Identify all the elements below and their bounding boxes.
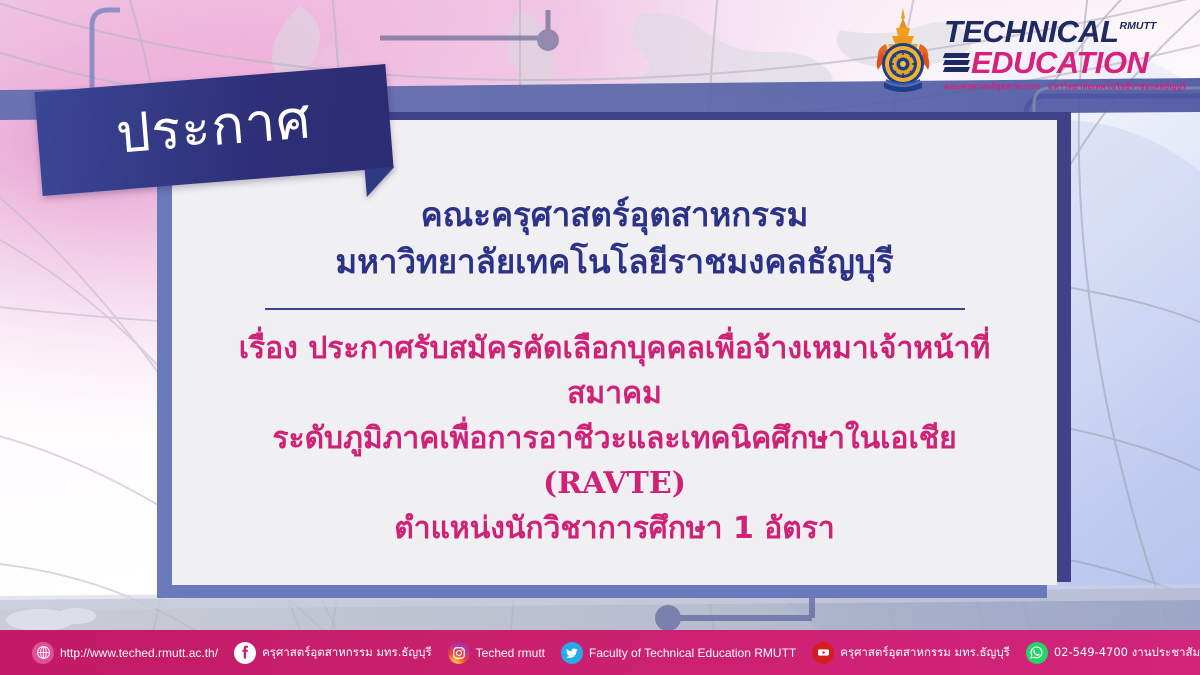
footer-label-website: http://www.teched.rmutt.ac.th/ xyxy=(60,647,218,659)
ribbon-label: ประกาศ xyxy=(114,92,314,167)
whatsapp-icon xyxy=(1026,642,1048,664)
university-name: มหาวิทยาลัยเทคโนโลยีราชมงคลธัญบุรี xyxy=(335,239,893,286)
footer-item-youtube[interactable]: ครุศาสตร์อุตสาหกรรม มทร.ธัญบุรี xyxy=(812,642,1010,664)
triple-bar-icon xyxy=(944,53,969,72)
footer-label-facebook: ครุศาสตร์อุตสาหกรรม มทร.ธัญบุรี xyxy=(262,647,432,659)
wordmark-technical: TECHNICAL xyxy=(944,18,1119,47)
heading-divider xyxy=(265,308,965,310)
wordmark-rmutt: RMUTT xyxy=(1120,22,1157,32)
faculty-name: คณะครุศาสตร์อุตสาหกรรม xyxy=(335,192,893,239)
footer-item-twitter[interactable]: Faculty of Technical Education RMUTT xyxy=(561,642,796,664)
wordmark-thai-university: มหาวิทยาลัยเทคโนโลยีราชมงคลธัญบุรี xyxy=(1048,82,1186,91)
social-footer: http://www.teched.rmutt.ac.th/ ครุศาสตร์… xyxy=(0,630,1200,675)
subject-block: เรื่อง ประกาศรับสมัครคัดเลือกบุคคลเพื่อจ… xyxy=(212,326,1017,551)
wordmark-thai-faculty: คณะครุศาสตร์อุตสาหกรรม xyxy=(944,82,1040,91)
rmutt-royal-crest-icon xyxy=(872,6,934,94)
footer-item-phone[interactable]: 02-549-4700 งานประชาสัมพันธ์ xyxy=(1026,642,1200,664)
poster-stage: TECHNICAL RMUTT EDUCATION คณะครุศาสตร์อุ… xyxy=(0,0,1200,675)
wordmark-education: EDUCATION xyxy=(971,48,1148,77)
ribbon-tail-icon xyxy=(365,167,397,197)
globe-icon xyxy=(32,642,54,664)
footer-label-youtube: ครุศาสตร์อุตสาหกรรม มทร.ธัญบุรี xyxy=(840,647,1010,659)
footer-item-instagram[interactable]: Teched rmutt xyxy=(448,642,545,664)
subject-line-2-thai: ระดับภูมิภาคเพื่อการอาชีวะและเทคนิคศึกษา… xyxy=(272,421,956,456)
instagram-icon xyxy=(448,642,470,664)
subject-line-2: ระดับภูมิภาคเพื่อการอาชีวะและเทคนิคศึกษา… xyxy=(212,416,1017,506)
subject-line-2-abbr: (RAVTE) xyxy=(543,466,686,501)
footer-item-facebook[interactable]: ครุศาสตร์อุตสาหกรรม มทร.ธัญบุรี xyxy=(234,642,432,664)
footer-label-phone: 02-549-4700 งานประชาสัมพันธ์ xyxy=(1054,647,1200,659)
footer-label-twitter: Faculty of Technical Education RMUTT xyxy=(589,647,796,659)
twitter-icon xyxy=(561,642,583,664)
footer-item-website[interactable]: http://www.teched.rmutt.ac.th/ xyxy=(32,642,218,664)
subject-line-3: ตำแหน่งนักวิชาการศึกษา 1 อัตรา xyxy=(212,506,1017,551)
brand-logo: TECHNICAL RMUTT EDUCATION คณะครุศาสตร์อุ… xyxy=(872,6,1186,94)
wordmark: TECHNICAL RMUTT EDUCATION คณะครุศาสตร์อุ… xyxy=(944,6,1186,93)
organization-heading: คณะครุศาสตร์อุตสาหกรรม มหาวิทยาลัยเทคโนโ… xyxy=(335,192,893,286)
youtube-icon xyxy=(812,642,834,664)
announcement-card: คณะครุศาสตร์อุตสาหกรรม มหาวิทยาลัยเทคโนโ… xyxy=(172,120,1057,585)
footer-label-instagram: Teched rmutt xyxy=(476,647,545,659)
subject-line-1: เรื่อง ประกาศรับสมัครคัดเลือกบุคคลเพื่อจ… xyxy=(212,326,1017,416)
facebook-icon xyxy=(234,642,256,664)
